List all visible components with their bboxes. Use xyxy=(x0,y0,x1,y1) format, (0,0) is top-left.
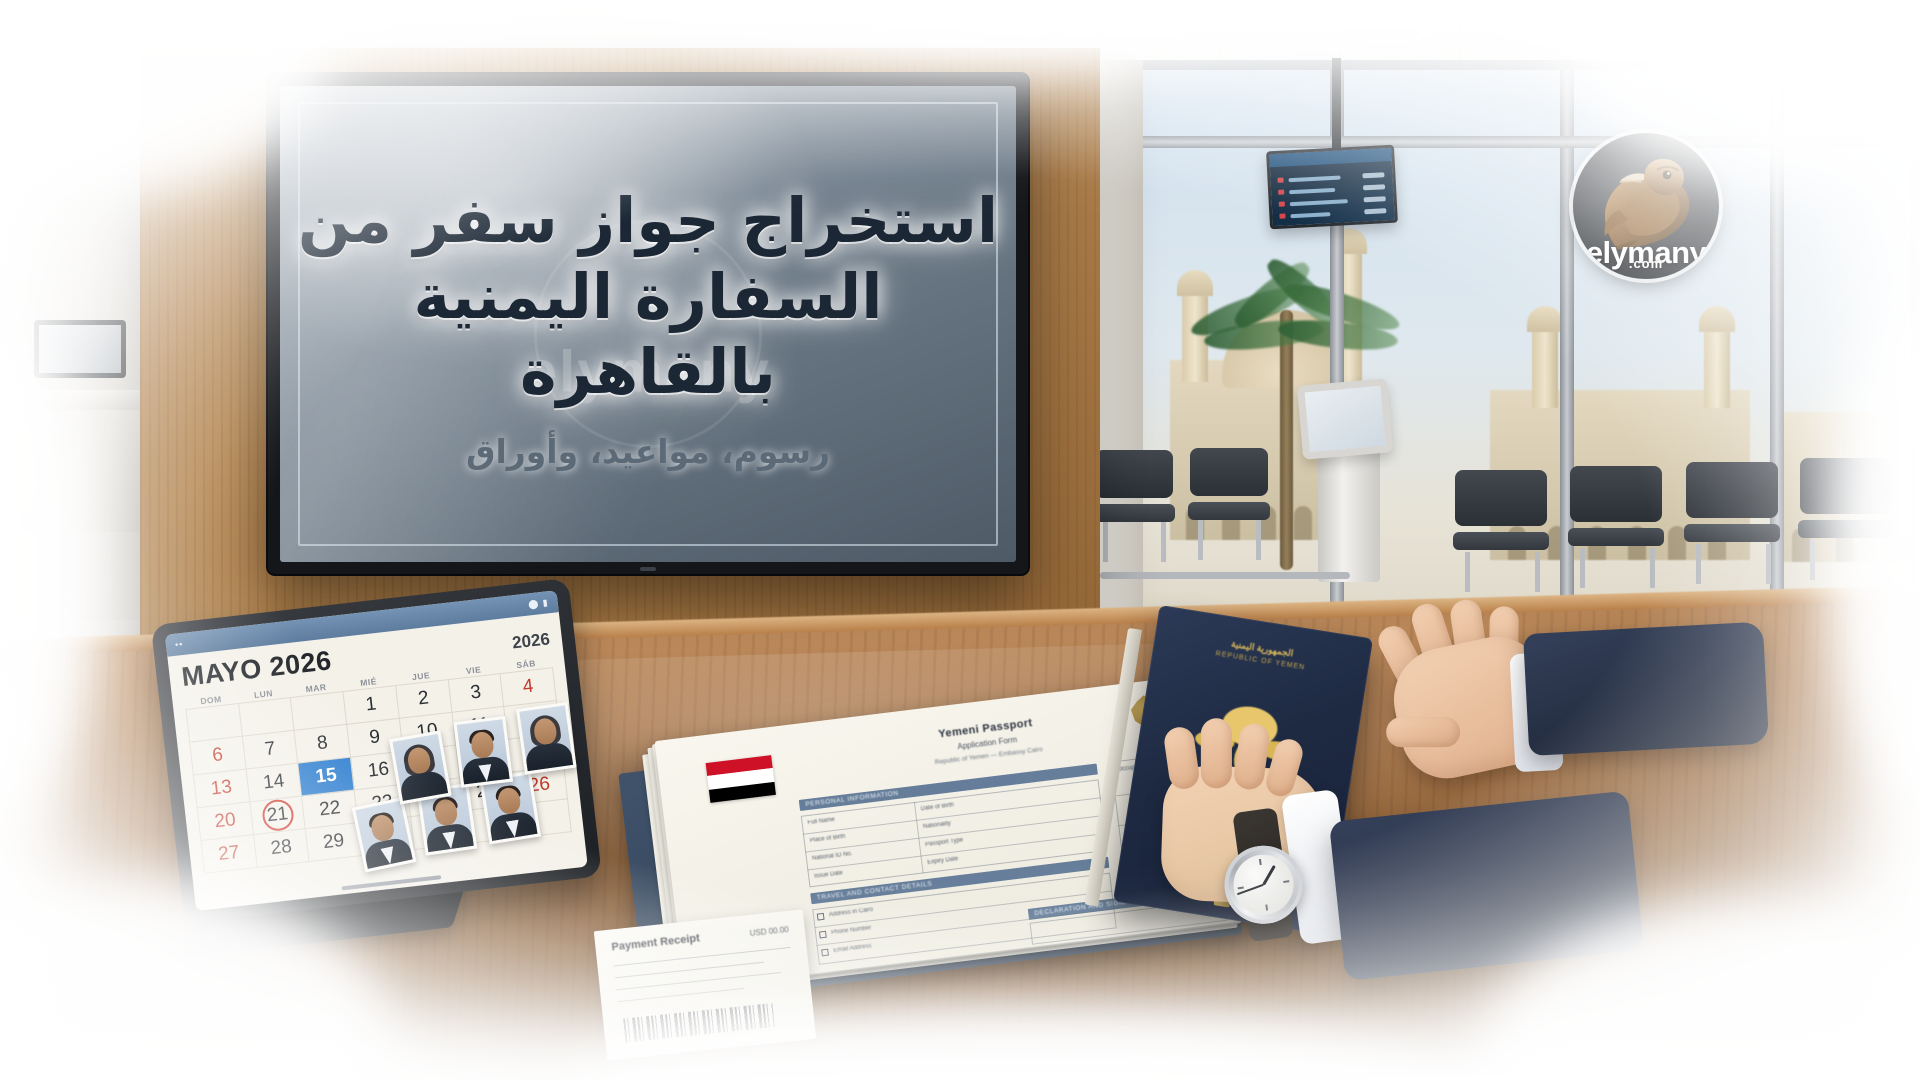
logo-circle: elymany .com xyxy=(1573,133,1719,279)
receipt-amount: USD 00.00 xyxy=(749,925,789,938)
ceiling-light xyxy=(1520,10,1820,26)
tv-screen: elymany استخراج جواز سفر من السفارة اليم… xyxy=(280,86,1016,562)
site-logo[interactable]: elymany .com xyxy=(1573,133,1719,279)
flight-info-display xyxy=(1266,145,1398,230)
receipt-title: Payment Receipt xyxy=(611,932,700,953)
chair-beam xyxy=(1100,572,1350,579)
calendar-day-cell[interactable]: 27 xyxy=(201,835,257,874)
wristwatch xyxy=(1209,820,1313,928)
form-checkbox[interactable] xyxy=(819,931,827,939)
scene-root: elymany استخراج جواز سفر من السفارة اليم… xyxy=(0,0,1920,1080)
passport-photo xyxy=(453,716,513,788)
logo-domain: .com xyxy=(1629,256,1663,271)
reception-monitor xyxy=(34,320,126,378)
payment-receipt: Payment Receipt USD 00.00 xyxy=(594,909,816,1060)
tv-subtitle: رسوم، مواعيد، وأوراق xyxy=(466,432,830,471)
status-left: •• xyxy=(174,639,183,650)
passport-photo xyxy=(516,702,577,775)
yemen-flag-icon xyxy=(706,755,776,803)
kiosk-screen[interactable] xyxy=(1297,378,1393,460)
form-checkbox[interactable] xyxy=(817,913,825,921)
ceiling-light xyxy=(1180,22,1420,38)
passport-photo xyxy=(352,797,417,872)
status-right: ⬤ ▮ xyxy=(528,597,550,610)
presentation-tv: elymany استخراج جواز سفر من السفارة اليم… xyxy=(268,74,1028,574)
tv-title-line-1: استخراج جواز سفر من xyxy=(280,183,1016,259)
passport-photo xyxy=(389,730,452,804)
form-checkbox[interactable] xyxy=(821,949,829,957)
tv-power-led xyxy=(640,567,656,571)
tv-title-line-2: السفارة اليمنية بالقاهرة xyxy=(280,259,1016,410)
hand-holding-passport xyxy=(1136,764,1505,1026)
barcode-icon xyxy=(623,1003,775,1043)
passport-photo-sheet xyxy=(337,687,652,902)
display-mount-pole xyxy=(1332,58,1341,150)
calendar-day-cell[interactable]: 28 xyxy=(254,829,310,868)
calendar-year-label: 2026 xyxy=(511,629,551,653)
